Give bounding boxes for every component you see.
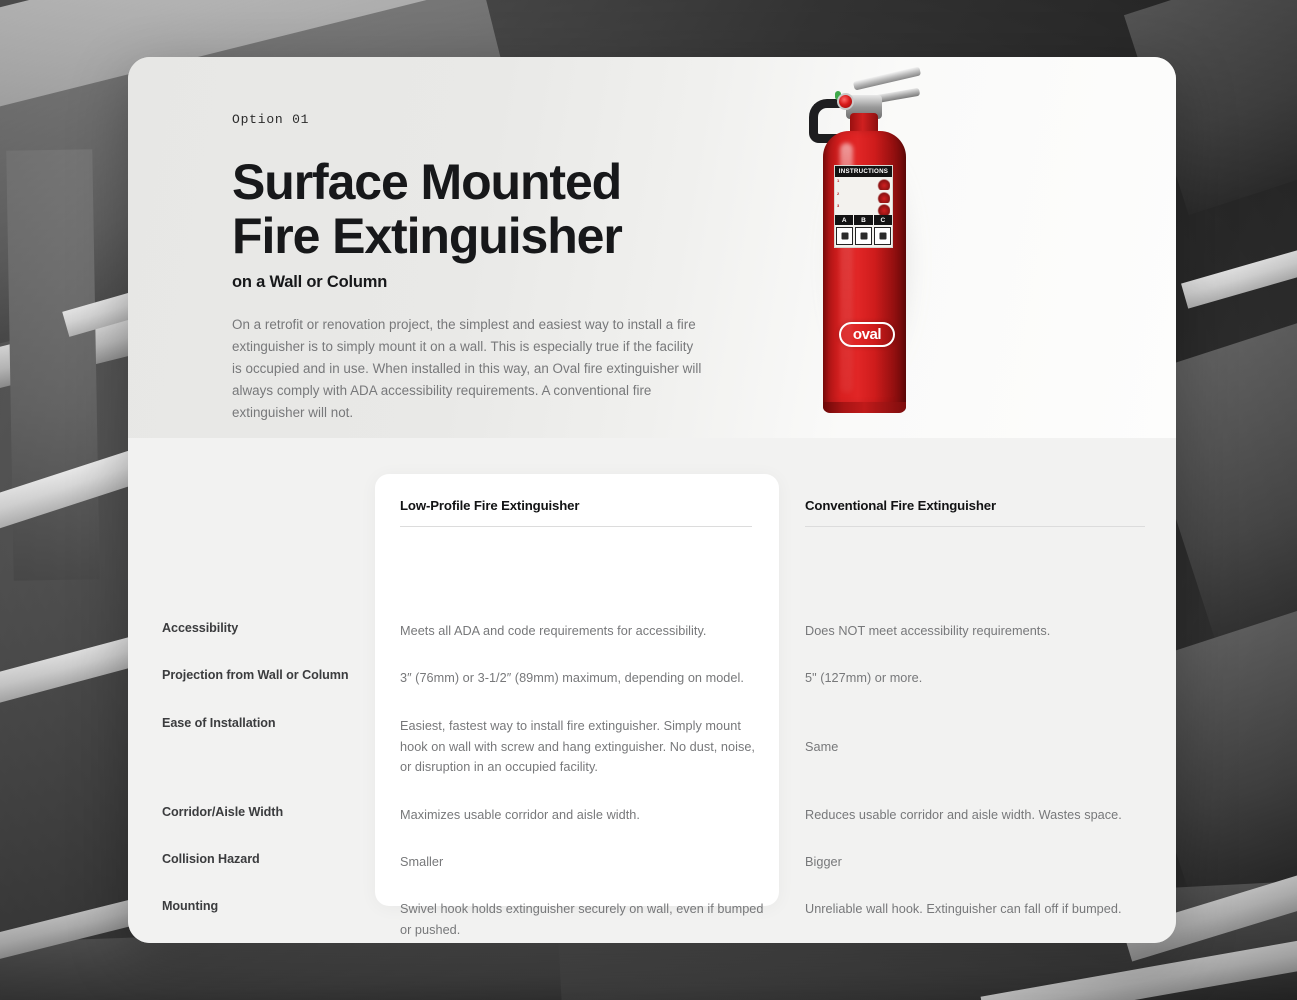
step-illustration-icon xyxy=(877,179,890,190)
cell-low-profile: Swivel hook holds extinguisher securely … xyxy=(400,899,805,940)
hero-description: On a retrofit or renovation project, the… xyxy=(232,314,702,425)
cell-low-profile: 3″ (76mm) or 3-1/2″ (89mm) maximum, depe… xyxy=(400,668,805,689)
fire-extinguisher-image: INSTRUCTIONS 1 2 xyxy=(698,57,1176,438)
lever-upper-icon xyxy=(853,66,921,90)
table-row: Accessibility Meets all ADA and code req… xyxy=(128,621,1176,642)
table-header-row: Low-Profile Fire Extinguisher Convention… xyxy=(128,498,1176,527)
cell-low-profile: Maximizes usable corridor and aisle widt… xyxy=(400,805,805,826)
cylinder-base xyxy=(823,402,906,413)
cell-conventional: Bigger xyxy=(805,852,1165,873)
table-row: Corridor/Aisle Width Maximizes usable co… xyxy=(128,805,1176,826)
fire-class-row: A B C xyxy=(835,215,892,225)
table-row: Collision Hazard Smaller Bigger xyxy=(128,852,1176,873)
instruction-step: 2 xyxy=(837,192,890,203)
row-label: Accessibility xyxy=(128,621,400,642)
brand-logo: oval xyxy=(839,322,895,347)
instructions-steps: 1 2 xyxy=(835,177,892,215)
headline-line-2: Fire Extinguisher xyxy=(232,208,622,264)
page-subtitle: on a Wall or Column xyxy=(232,273,698,292)
cell-conventional: Unreliable wall hook. Extinguisher can f… xyxy=(805,899,1165,940)
column-header-label: Conventional Fire Extinguisher xyxy=(805,498,1165,526)
cell-low-profile: Smaller xyxy=(400,852,805,873)
step-number: 3 xyxy=(837,204,839,208)
step-illustration-icon xyxy=(877,192,890,203)
column-header-label: Low-Profile Fire Extinguisher xyxy=(400,498,775,526)
fire-class-icons xyxy=(835,227,892,245)
column-header-conventional: Conventional Fire Extinguisher xyxy=(805,498,1165,527)
cell-conventional: Same xyxy=(805,716,1165,778)
step-number: 2 xyxy=(837,192,839,196)
cell-low-profile: Meets all ADA and code requirements for … xyxy=(400,621,805,642)
cell-conventional: Does NOT meet accessibility requirements… xyxy=(805,621,1165,642)
pressure-gauge-icon xyxy=(837,93,854,110)
step-number: 1 xyxy=(837,179,839,183)
class-a-icon xyxy=(836,227,853,245)
instructions-label-title: INSTRUCTIONS xyxy=(835,166,892,177)
row-label: Ease of Installation xyxy=(128,716,400,778)
cell-conventional: Reduces usable corridor and aisle width.… xyxy=(805,805,1165,826)
class-b-icon xyxy=(855,227,872,245)
fire-class-a: A xyxy=(835,215,854,225)
option-label: Option 01 xyxy=(232,112,698,127)
instruction-step: 3 xyxy=(837,204,890,215)
column-header-low-profile: Low-Profile Fire Extinguisher xyxy=(400,498,805,527)
comparison-table: Low-Profile Fire Extinguisher Convention… xyxy=(128,438,1176,943)
content-panel: Option 01 Surface Mounted Fire Extinguis… xyxy=(128,57,1176,943)
headline-line-1: Surface Mounted xyxy=(232,154,621,210)
instruction-step: 1 xyxy=(837,179,890,190)
fire-class-b: B xyxy=(854,215,873,225)
hero-text-block: Option 01 Surface Mounted Fire Extinguis… xyxy=(128,57,698,438)
hero-section: Option 01 Surface Mounted Fire Extinguis… xyxy=(128,57,1176,438)
header-divider xyxy=(400,526,752,527)
row-label: Corridor/Aisle Width xyxy=(128,805,400,826)
row-label: Mounting xyxy=(128,899,400,940)
header-spacer xyxy=(128,498,400,527)
row-label: Collision Hazard xyxy=(128,852,400,873)
header-divider xyxy=(805,526,1145,527)
step-illustration-icon xyxy=(877,204,890,215)
table-row: Mounting Swivel hook holds extinguisher … xyxy=(128,899,1176,940)
fire-class-c: C xyxy=(874,215,892,225)
cell-low-profile: Easiest, fastest way to install fire ext… xyxy=(400,716,805,778)
comparison-section: Low-Profile Fire Extinguisher Convention… xyxy=(128,438,1176,943)
table-row: Ease of Installation Easiest, fastest wa… xyxy=(128,716,1176,778)
product-image-area: INSTRUCTIONS 1 2 xyxy=(698,57,1176,438)
instructions-label: INSTRUCTIONS 1 2 xyxy=(834,165,893,248)
class-c-icon xyxy=(874,227,891,245)
row-label: Projection from Wall or Column xyxy=(128,668,400,689)
table-row: Projection from Wall or Column 3″ (76mm)… xyxy=(128,668,1176,689)
cell-conventional: 5" (127mm) or more. xyxy=(805,668,1165,689)
page-title: Surface Mounted Fire Extinguisher xyxy=(232,155,698,263)
